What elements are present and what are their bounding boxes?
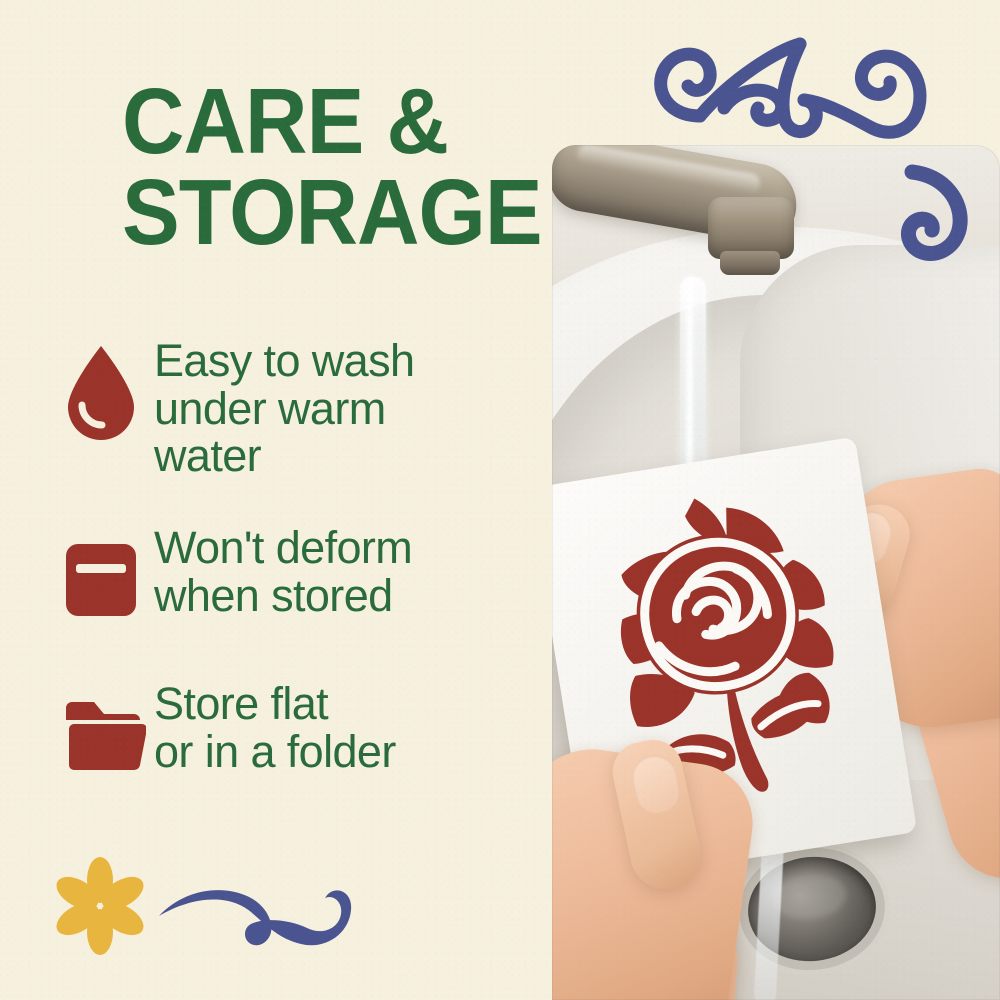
feature-2-line-1: Won't deform bbox=[154, 524, 412, 572]
feature-list: Easy to wash under warm water Won't defo… bbox=[62, 337, 542, 838]
feature-1-line-1: Easy to wash bbox=[154, 337, 414, 385]
faucet-head bbox=[708, 197, 794, 259]
list-item-label: Won't deform when stored bbox=[154, 524, 412, 619]
page-title: CARE & STORAGE bbox=[122, 76, 522, 258]
list-item: Store flat or in a folder bbox=[62, 680, 542, 794]
poster-canvas: CARE & STORAGE Easy to wash under warm w… bbox=[0, 0, 1000, 1000]
feature-1-line-2: under warm bbox=[154, 385, 414, 433]
list-item: Won't deform when stored bbox=[62, 524, 542, 636]
headline-line-2: STORAGE bbox=[122, 167, 522, 258]
water-drop-icon bbox=[62, 337, 154, 447]
faucet-tip bbox=[720, 251, 780, 275]
feature-2-line-2: when stored bbox=[154, 572, 412, 620]
feature-3-line-2: or in a folder bbox=[154, 728, 396, 776]
list-item: Easy to wash under warm water bbox=[62, 337, 542, 480]
flourish-swirl-top-icon bbox=[628, 30, 928, 165]
storage-box-icon bbox=[62, 524, 154, 636]
feature-1-line-3: water bbox=[154, 432, 414, 480]
list-item-label: Easy to wash under warm water bbox=[154, 337, 414, 480]
faucet bbox=[608, 145, 828, 299]
folder-icon bbox=[62, 680, 154, 794]
flourish-comma-topright-icon bbox=[890, 160, 980, 275]
flourish-wave-bottom-icon bbox=[155, 876, 355, 961]
headline-line-1: CARE & bbox=[122, 76, 522, 167]
list-item-label: Store flat or in a folder bbox=[154, 680, 396, 775]
feature-3-line-1: Store flat bbox=[154, 680, 396, 728]
flower-six-petal-icon bbox=[50, 856, 150, 961]
